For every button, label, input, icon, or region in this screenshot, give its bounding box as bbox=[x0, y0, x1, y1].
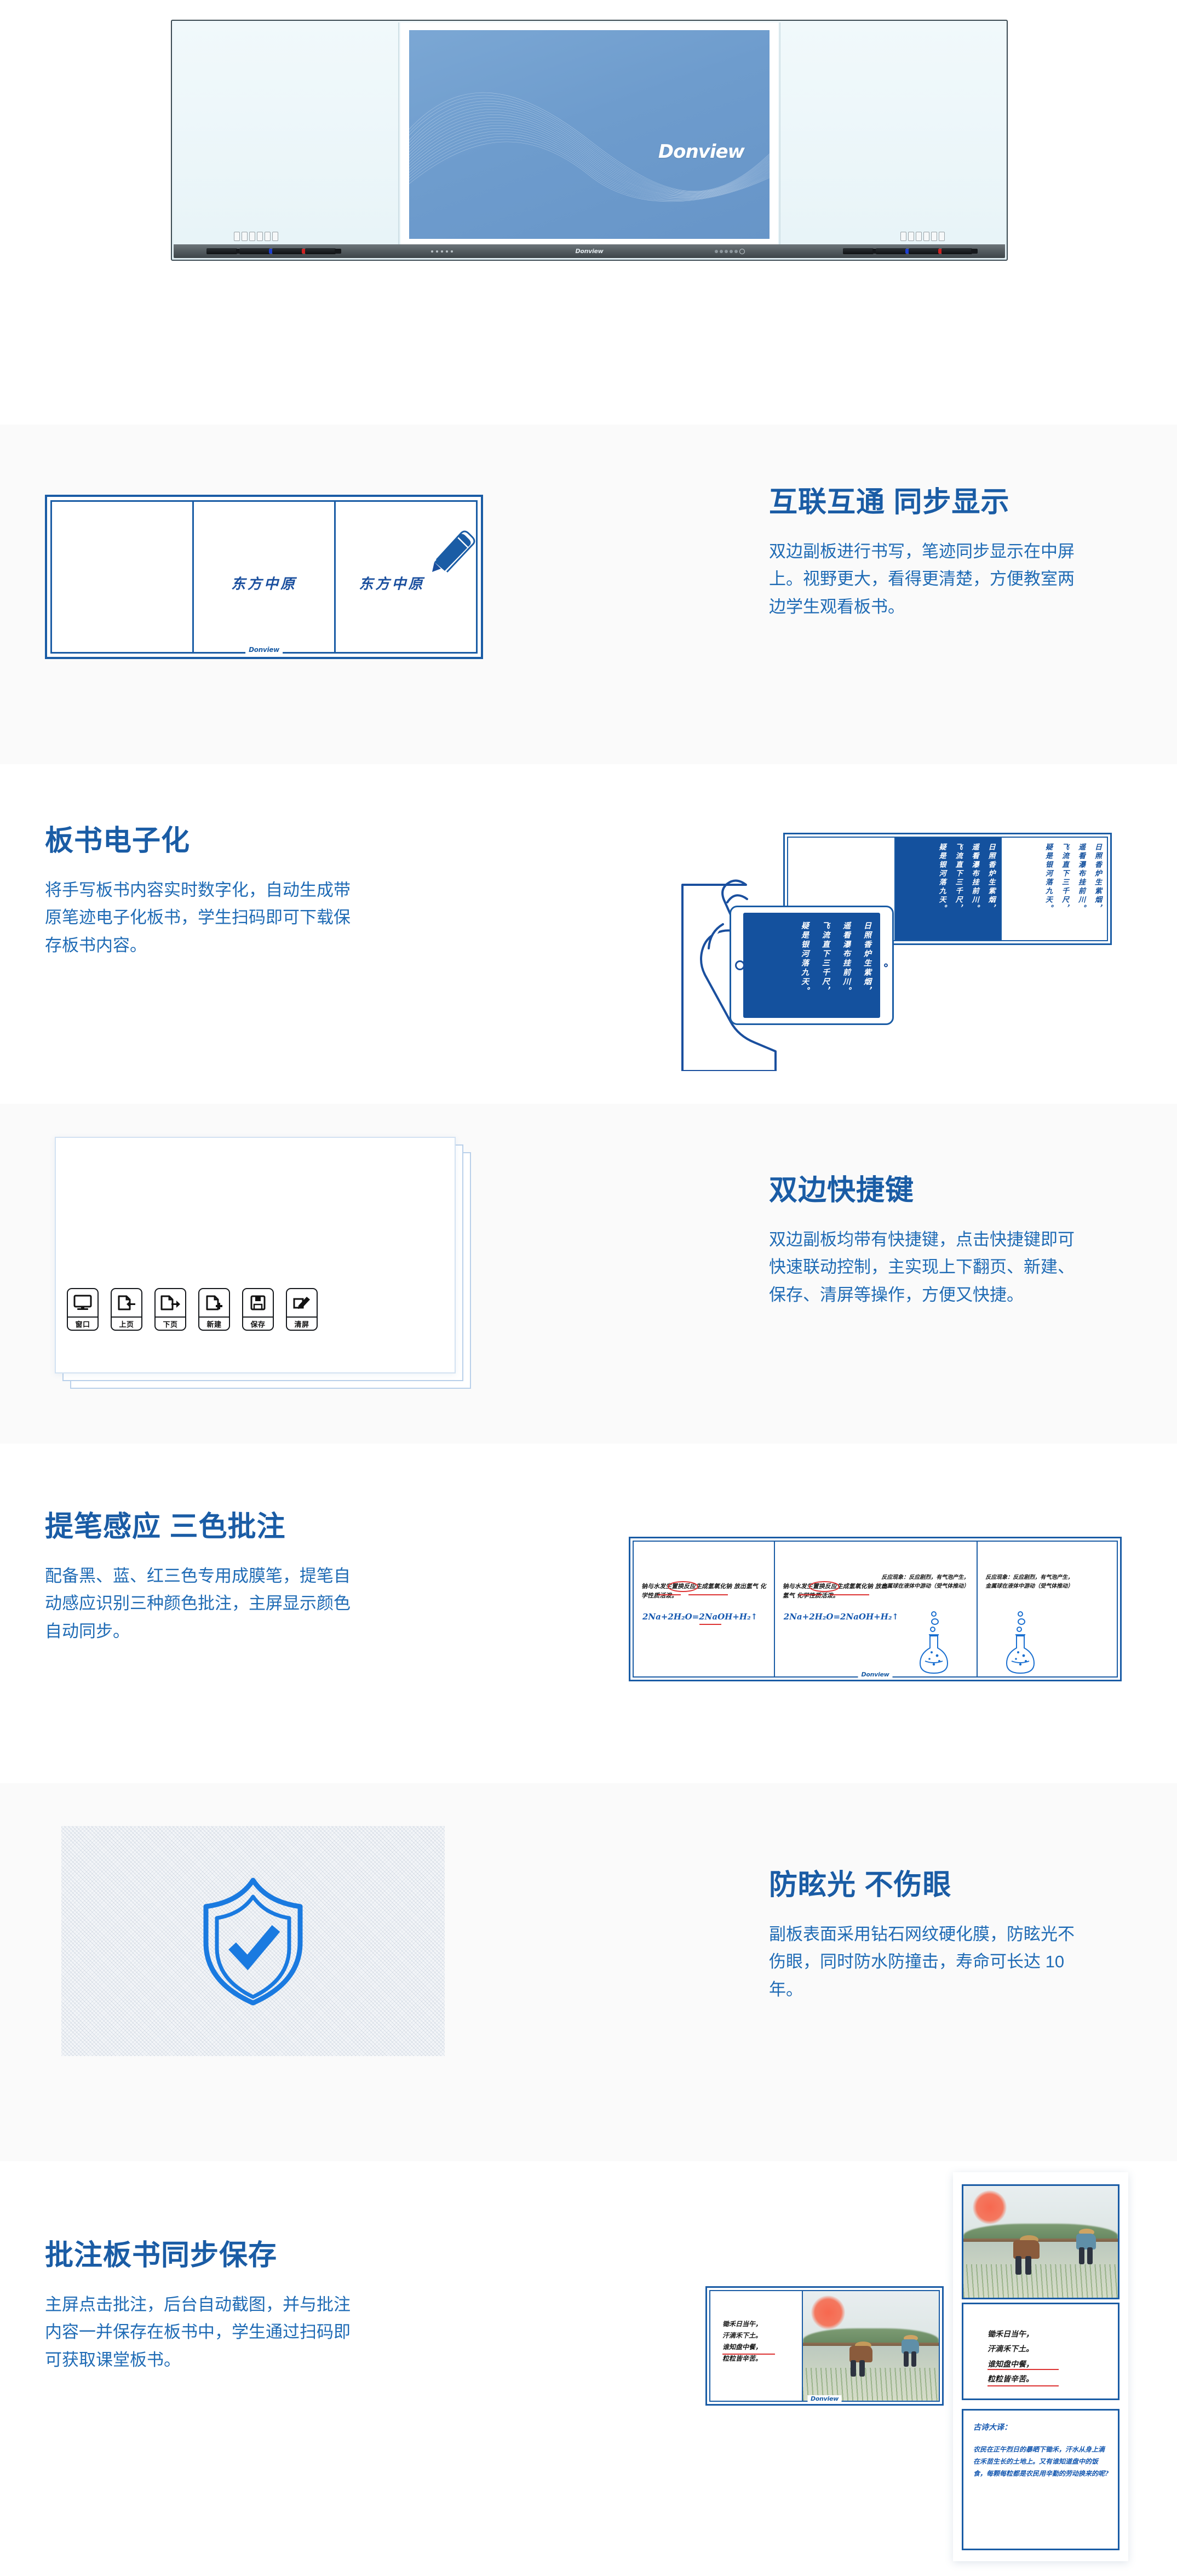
wave-graphic bbox=[409, 64, 770, 210]
poem-line-1-white: 日照香炉生紫烟， bbox=[1092, 843, 1103, 934]
section-title-interconnect: 互联互通 同步显示 bbox=[769, 487, 1076, 518]
page-new-icon bbox=[199, 1289, 229, 1316]
smart-blackboard-device: Donview Donview bbox=[171, 20, 1008, 261]
section-body-digital: 将手写板书内容实时数字化，自动生成带原笔迹电子化板书，学生扫码即可下载保存板书内… bbox=[45, 877, 352, 959]
board-frame: Donview Donview bbox=[171, 20, 1008, 261]
pen-black-right bbox=[843, 248, 874, 254]
shortcut-keys-copy: 双边快捷键 双边副板均带有快捷键，点击快捷键即可快速联动控制，主实现上下翻页、新… bbox=[769, 1175, 1076, 1309]
hand-phone-illustration: 日照香炉生紫烟， 遥看瀑布挂前川。 飞流直下三千尺， 疑是银河落九天。 日照香炉… bbox=[646, 781, 1117, 1071]
doc-poem-line-1: 锄禾日当午， bbox=[987, 2327, 1034, 2342]
doc-photo bbox=[963, 2186, 1118, 2298]
shortcut-key-next-page[interactable]: 下页 bbox=[154, 1288, 186, 1331]
section-title-digital: 板书电子化 bbox=[45, 826, 352, 857]
phone-camera-icon bbox=[884, 964, 888, 968]
shortcut-key-prev-page[interactable]: 上页 bbox=[111, 1288, 142, 1331]
doc-poem-lines: 锄禾日当午， 汗滴禾下土。 谁知盘中餐， 粒粒皆辛苦。 bbox=[987, 2327, 1034, 2387]
section-shortcut-keys: 窗口 上页 bbox=[0, 1104, 1177, 1444]
translation-body: 农民在正午烈日的暴晒下锄禾，汗水从身上滴在禾苗生长的土地上。又有谁知道盘中的饭食… bbox=[973, 2443, 1109, 2480]
right-wing-shortcut-strip[interactable] bbox=[900, 232, 945, 241]
pen-eraser-right bbox=[941, 248, 972, 254]
section-body-annotation: 主屏点击批注，后台自动截图，并与批注内容一并保存在板书中，学生通过扫码即可获取课… bbox=[45, 2291, 352, 2374]
monitor-icon bbox=[68, 1289, 97, 1316]
chem-observation-2: 反应现象：反应剧烈，有气泡产生，金属球在液体中游动（受气体推动） bbox=[881, 1573, 969, 1591]
page-prev-icon bbox=[112, 1289, 141, 1316]
shortcut-key-window-label: 窗口 bbox=[68, 1316, 97, 1330]
chem-equation-1: 2Na+2H₂O=2NaOH+H₂↑ bbox=[642, 1612, 757, 1622]
diamond-texture-panel bbox=[61, 1826, 445, 2056]
poem-line-2-white: 遥看瀑布挂前川。 bbox=[1075, 843, 1086, 934]
phone-poem-line-4: 疑是银河落九天。 bbox=[798, 921, 810, 1004]
shortcut-key-next-label: 下页 bbox=[156, 1316, 185, 1330]
section-anti-glare: 防眩光 不伤眼 副板表面采用钻石网纹硬化膜，防眩光不伤眼，同时防水防撞击，寿命可… bbox=[0, 1783, 1177, 2161]
eq-underline-1 bbox=[699, 1624, 721, 1625]
chemistry-board-illustration: 钠与水发生置换反应生成氢氧化钠 放出氢气 化学性质活泼。 2Na+2H₂O=2N… bbox=[629, 1537, 1122, 1681]
page-next-icon bbox=[156, 1289, 185, 1316]
phone-poem-line-3: 飞流直下三千尺， bbox=[819, 921, 831, 1004]
red-underline-1 bbox=[658, 1594, 681, 1595]
saved-document-card: 锄禾日当午， 汗滴禾下土。 谁知盘中餐， 粒粒皆辛苦。 古诗大译： 农民在正午烈… bbox=[953, 2172, 1128, 2561]
center-panel: Donview bbox=[400, 22, 778, 244]
section-body-interconnect: 双边副板进行书写，笔迹同步显示在中屏上。视野更大，看得更清楚，方便教室两边学生观… bbox=[769, 538, 1076, 621]
minnong-line-3: 谁知盘中餐， bbox=[722, 2342, 762, 2353]
phone-home-button[interactable] bbox=[735, 960, 745, 970]
board-brand-logo: Donview bbox=[245, 646, 283, 654]
section-body-shortcut: 双边副板均带有快捷键，点击快捷键即可快速联动控制，主实现上下翻页、新建、保存、清… bbox=[769, 1226, 1076, 1309]
poem-line-4-blue: 疑是银河落九天。 bbox=[935, 843, 946, 934]
chem-cell-1: 钠与水发生置换反应生成氢氧化钠 放出氢气 化学性质活泼。 2Na+2H₂O=2N… bbox=[634, 1542, 774, 1676]
board-panel-left bbox=[52, 502, 192, 652]
flask-icon-3 bbox=[1000, 1610, 1041, 1674]
red-wave-underline-2 bbox=[830, 1594, 869, 1595]
shortcut-key-card-illustration: 窗口 上页 bbox=[55, 1137, 471, 1389]
floppy-save-icon bbox=[243, 1289, 273, 1316]
section-title-shortcut: 双边快捷键 bbox=[769, 1175, 1076, 1206]
anti-glare-copy: 防眩光 不伤眼 副板表面采用钻石网纹硬化膜，防眩光不伤眼，同时防水防撞击，寿命可… bbox=[769, 1870, 1076, 2003]
chem-note-text-1: 钠与水发生置换反应生成氢氧化钠 放出氢气 化学性质活泼。 bbox=[641, 1582, 767, 1600]
doc-farmer-left bbox=[1010, 2235, 1044, 2279]
eraser-clear-icon bbox=[287, 1289, 317, 1316]
board-panel-center: 东方中原 bbox=[192, 502, 334, 652]
board-panel-right: 东方中原 bbox=[334, 502, 476, 652]
phone-screen: 日照香炉生紫烟， 遥看瀑布挂前川。 飞流直下三千尺， 疑是银河落九天。 bbox=[743, 913, 880, 1018]
section-title-annotation: 批注板书同步保存 bbox=[45, 2240, 352, 2271]
doc-poem-frame: 锄禾日当午， 汗滴禾下土。 谁知盘中餐， 粒粒皆辛苦。 bbox=[962, 2303, 1119, 2400]
shortcut-key-clear[interactable]: 清屏 bbox=[286, 1288, 318, 1331]
phone-poem-line-2: 遥看瀑布挂前川。 bbox=[840, 921, 852, 1004]
doc-sun-graphic bbox=[973, 2190, 1007, 2224]
interconnect-copy: 互联互通 同步显示 双边副板进行书写，笔迹同步显示在中屏上。视野更大，看得更清楚… bbox=[769, 487, 1076, 621]
phone-poem-line-1: 日照香炉生紫烟， bbox=[860, 921, 872, 1004]
shortcut-key-save-label: 保存 bbox=[243, 1316, 273, 1330]
poem-line-2-blue: 遥看瀑布挂前川。 bbox=[968, 843, 979, 934]
section-pen-sensing: 提笔感应 三色批注 配备黑、蓝、红三色专用成膜笔，提笔自动感应识别三种颜色批注，… bbox=[0, 1444, 1177, 1783]
bg-board-cell-3: 日照香炉生紫烟， 遥看瀑布挂前川。 飞流直下三千尺， 疑是银河落九天。 bbox=[1001, 838, 1107, 940]
chem-cell-3: 反应现象：反应剧烈，有气泡产生，金属球在液体中游动（受气体推动） bbox=[977, 1542, 1117, 1676]
red-circle-annotation-1 bbox=[668, 1581, 698, 1592]
farmer-figure-left bbox=[846, 2342, 877, 2381]
shortcut-key-window[interactable]: 窗口 bbox=[67, 1288, 99, 1331]
chem-cell-2: 钠与水发生置换反应生成氢氧化钠 放出氢气 化学性质活泼。 2Na+2H₂O=2N… bbox=[774, 1542, 977, 1676]
left-pen-tray bbox=[206, 248, 336, 254]
chem-note-1: 钠与水发生置换反应生成氢氧化钠 放出氢气 化学性质活泼。 bbox=[641, 1582, 767, 1600]
section-title-pen: 提笔感应 三色批注 bbox=[45, 1512, 352, 1543]
pen-black bbox=[206, 248, 237, 254]
red-wave-underline-1 bbox=[688, 1594, 728, 1595]
pen-red bbox=[272, 248, 303, 254]
red-circle-annotation-2 bbox=[809, 1581, 840, 1592]
section-body-glare: 副板表面采用钻石网纹硬化膜，防眩光不伤眼，同时防水防撞击，寿命可长达 10 年。 bbox=[769, 1921, 1076, 2003]
product-feature-page: Donview Donview bbox=[0, 0, 1177, 2576]
annotation-text-cell: 锄禾日当午， 汗滴禾下土。 谁知盘中餐， 粒粒皆辛苦。 bbox=[710, 2291, 802, 2401]
doc-red-underline-1 bbox=[987, 2369, 1059, 2370]
three-panel-board-illustration: 东方中原 东方中原 Donview bbox=[45, 495, 483, 659]
minnong-line-4: 粒粒皆辛苦。 bbox=[722, 2353, 762, 2365]
power-button[interactable] bbox=[739, 249, 745, 254]
pen-blue-right bbox=[876, 248, 906, 254]
section-digital-blackboard: 板书电子化 将手写板书内容实时数字化，自动生成带原笔迹电子化板书，学生扫码即可下… bbox=[0, 764, 1177, 1104]
pen-blue bbox=[239, 248, 270, 254]
section-body-pen: 配备黑、蓝、红三色专用成膜笔，提笔自动感应识别三种颜色批注，主屏显示颜色自动同步… bbox=[45, 1562, 352, 1645]
shortcut-key-clear-label: 清屏 bbox=[287, 1316, 317, 1330]
left-wing-panel bbox=[174, 22, 399, 244]
red-underline-poem bbox=[722, 2354, 775, 2355]
shortcut-key-new[interactable]: 新建 bbox=[198, 1288, 230, 1331]
poem-line-3-blue: 飞流直下三千尺， bbox=[952, 843, 963, 934]
screen-brand-logo: Donview bbox=[658, 141, 744, 163]
section-annotation-save: 批注板书同步保存 主屏点击批注，后台自动截图，并与批注内容一并保存在板书中，学生… bbox=[0, 2161, 1177, 2576]
shortcut-key-new-label: 新建 bbox=[199, 1316, 229, 1330]
stylus-pen-icon bbox=[427, 526, 479, 579]
board-handwriting-right: 东方中原 bbox=[359, 573, 424, 593]
shield-check-icon bbox=[198, 1873, 308, 2010]
annotation-save-copy: 批注板书同步保存 主屏点击批注，后台自动截图，并与批注内容一并保存在板书中，学生… bbox=[45, 2240, 352, 2374]
sun-graphic bbox=[811, 2295, 845, 2329]
poem-minnong-lines: 锄禾日当午， 汗滴禾下土。 谁知盘中餐， 粒粒皆辛苦。 bbox=[722, 2319, 762, 2365]
bezel-brand-logo: Donview bbox=[576, 248, 604, 255]
poem-line-4-white: 疑是银河落九天。 bbox=[1042, 843, 1053, 934]
poem-text-blue: 日照香炉生紫烟， bbox=[985, 843, 996, 934]
chem-observation-3: 反应现象：反应剧烈，有气泡产生，金属球在液体中游动（受气体推动） bbox=[985, 1573, 1073, 1591]
board-photo-cell bbox=[802, 2291, 939, 2401]
main-screen: Donview bbox=[409, 30, 770, 239]
doc-poem-line-2: 汗滴禾下土。 bbox=[987, 2342, 1034, 2357]
chem-note-2: 钠与水发生置换反应生成氢氧化钠 放出氢气 化学性质活泼。 bbox=[783, 1582, 892, 1600]
red-underline-2 bbox=[799, 1594, 822, 1595]
doc-farmer-right bbox=[1075, 2229, 1102, 2269]
doc-photo-frame bbox=[962, 2184, 1119, 2299]
chem-board-brand: Donview bbox=[858, 1671, 893, 1678]
pen-red-right bbox=[909, 248, 939, 254]
right-pen-tray bbox=[843, 248, 972, 254]
flask-icon-2 bbox=[913, 1610, 955, 1674]
doc-red-underline-2 bbox=[987, 2385, 1059, 2386]
shortcut-keys-row: 窗口 上页 bbox=[67, 1288, 318, 1331]
pen-eraser bbox=[305, 248, 336, 254]
digital-blackboard-copy: 板书电子化 将手写板书内容实时数字化，自动生成带原笔迹电子化板书，学生扫码即可下… bbox=[45, 826, 352, 959]
card-front-layer bbox=[55, 1137, 456, 1373]
hero-section: Donview Donview bbox=[0, 0, 1177, 425]
smartphone-device: 日照香炉生紫烟， 遥看瀑布挂前川。 飞流直下三千尺， 疑是银河落九天。 bbox=[730, 906, 894, 1025]
section-interconnect: 东方中原 东方中原 Donview 互联互通 同步显示 bbox=[0, 425, 1177, 764]
shortcut-key-prev-label: 上页 bbox=[112, 1316, 141, 1330]
board-handwriting-center: 东方中原 bbox=[231, 573, 297, 593]
poem-line-3-white: 飞流直下三千尺， bbox=[1059, 843, 1070, 934]
section-title-glare: 防眩光 不伤眼 bbox=[769, 1870, 1076, 1901]
pen-sensing-copy: 提笔感应 三色批注 配备黑、蓝、红三色专用成膜笔，提笔自动感应识别三种颜色批注，… bbox=[45, 1512, 352, 1645]
minnong-line-1: 锄禾日当午， bbox=[722, 2319, 762, 2330]
right-wing-panel bbox=[779, 22, 1005, 244]
shortcut-key-save[interactable]: 保存 bbox=[242, 1288, 274, 1331]
bottom-bezel: Donview bbox=[174, 244, 1005, 258]
translation-label: 古诗大译： bbox=[973, 2422, 1012, 2432]
minnong-line-2: 汗滴禾下土。 bbox=[722, 2330, 762, 2342]
annotated-board-illustration: 锄禾日当午， 汗滴禾下土。 谁知盘中餐， 粒粒皆辛苦。 bbox=[705, 2286, 944, 2406]
farmer-figure-right bbox=[900, 2335, 925, 2371]
chem-equation-2: 2Na+2H₂O=2NaOH+H₂↑ bbox=[784, 1612, 899, 1622]
bezel-ports bbox=[715, 249, 745, 254]
annotated-board-brand: Donview bbox=[807, 2395, 842, 2402]
left-wing-shortcut-strip[interactable] bbox=[234, 232, 278, 241]
doc-translation-frame: 古诗大译： 农民在正午烈日的暴晒下锄禾，汗水从身上滴在禾苗生长的土地上。又有谁知… bbox=[962, 2409, 1119, 2550]
bezel-indicator-dots bbox=[431, 250, 453, 253]
